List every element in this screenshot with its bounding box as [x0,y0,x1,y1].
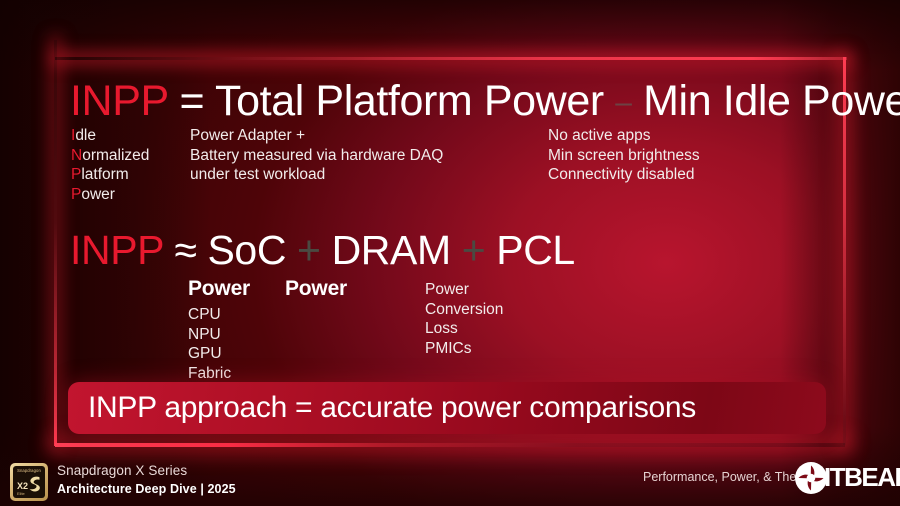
equation-one-term1: Total Platform Power [215,77,604,125]
footer-product-name: Snapdragon X Series [57,463,187,478]
acronym-rest: ormalized [82,147,149,164]
equation-two-term2: DRAM [332,227,451,273]
measurement-note: under test workload [190,165,443,185]
dragon-s-icon [27,475,42,495]
acronym-rest: ower [81,186,115,203]
dram-power-heading: Power [285,276,347,301]
acronym-rest: dle [75,127,96,144]
acronym-expansion-row: Power [71,185,149,205]
soc-power-column: Power CPU NPU GPU Fabric [188,276,250,383]
idle-condition: Min screen brightness [548,146,700,166]
equation-two-plus-2: + [462,227,486,273]
slide-canvas: INPP = Total Platform Power – Min Idle P… [0,0,900,506]
measurement-notes-list: Power Adapter + Battery measured via har… [190,126,443,185]
equation-one: INPP = Total Platform Power – Min Idle P… [70,80,900,123]
acronym-expansion-list: Idle Normalized Platform Power [71,126,149,204]
acronym-initial: N [71,147,82,164]
idle-condition: No active apps [548,126,700,146]
equation-one-minus: – [615,86,631,119]
conclusion-callout: INPP approach = accurate power compariso… [68,382,826,434]
acronym-rest: latform [81,166,128,183]
pcl-item: Loss [425,319,503,339]
acronym-expansion-row: Normalized [71,146,149,166]
equation-two-acronym: INPP [70,227,163,273]
equation-two-term3: PCL [496,227,575,273]
equation-two-approx: ≈ [174,227,196,273]
background-top-vignette [0,0,900,70]
badge-gen-label: Elite [17,492,25,496]
conclusion-callout-text: INPP approach = accurate power compariso… [88,391,696,425]
idle-conditions-list: No active apps Min screen brightness Con… [548,126,700,185]
equation-two: INPP ≈ SoC + DRAM + PCL [70,230,575,271]
badge-brand-label: Snapdragon [13,468,45,473]
equation-one-acronym: INPP [70,77,168,125]
acronym-initial: P [71,186,81,203]
equation-two-term1: SoC [207,227,286,273]
idle-condition: Connectivity disabled [548,165,700,185]
soc-power-heading: Power [188,276,250,301]
acronym-initial: P [71,166,81,183]
measurement-note: Battery measured via hardware DAQ [190,146,443,166]
measurement-note: Power Adapter + [190,126,443,146]
footer-section-label: Performance, Power, & Thermals [643,470,827,484]
footer-subtitle: Architecture Deep Dive | 2025 [57,482,236,496]
acronym-expansion-row: Platform [71,165,149,185]
equation-one-term2: Min Idle Power [643,77,900,125]
soc-power-item: NPU [188,325,250,345]
soc-power-item: GPU [188,344,250,364]
soc-power-item: CPU [188,305,250,325]
pcl-item: Conversion [425,300,503,320]
dram-power-column: Power [285,276,347,301]
pcl-item: Power [425,280,503,300]
pcl-column: Power Conversion Loss PMICs [425,280,503,358]
pcl-item: PMICs [425,339,503,359]
acronym-expansion-row: Idle [71,126,149,146]
equation-one-equals: = [180,77,205,125]
snapdragon-badge-icon: Snapdragon X2 Elite [10,463,48,501]
soc-power-item: Fabric [188,364,250,384]
equation-two-plus-1: + [297,227,321,273]
